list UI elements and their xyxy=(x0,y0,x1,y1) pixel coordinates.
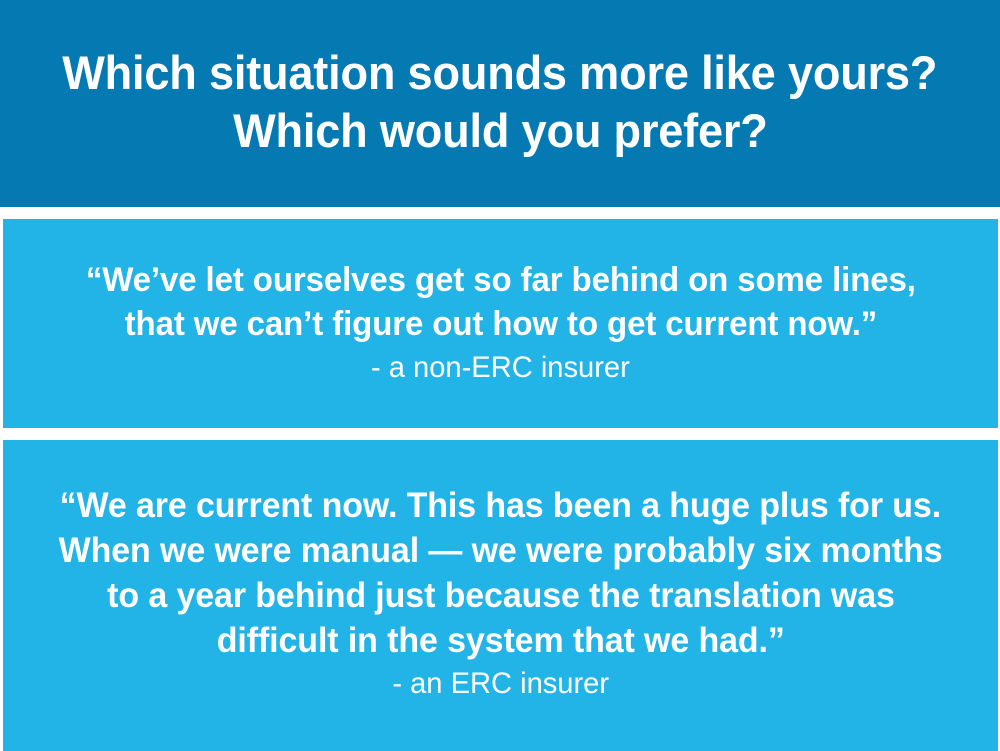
slide-root: Which situation sounds more like yours? … xyxy=(0,0,1000,751)
quote-line: difficult in the system that we had.” xyxy=(217,618,785,663)
header-title-line-2: Which would you prefer? xyxy=(233,102,768,160)
quote-line: “We’ve let ourselves get so far behind o… xyxy=(85,258,915,302)
header-band: Which situation sounds more like yours? … xyxy=(0,0,1000,207)
quote-attribution-non-erc: - a non-ERC insurer xyxy=(371,348,630,388)
quote-line: “We are current now. This has been a hug… xyxy=(60,483,941,528)
quote-attribution-erc: - an ERC insurer xyxy=(392,664,609,704)
quote-line: When we were manual — we were probably s… xyxy=(59,528,943,573)
quote-line: that we can’t figure out how to get curr… xyxy=(124,302,877,346)
quote-band-erc: “We are current now. This has been a hug… xyxy=(3,440,998,751)
quote-line: to a year behind just because the transl… xyxy=(107,573,895,618)
header-title-line-1: Which situation sounds more like yours? xyxy=(63,44,938,102)
quote-band-non-erc: “We’ve let ourselves get so far behind o… xyxy=(3,219,998,428)
